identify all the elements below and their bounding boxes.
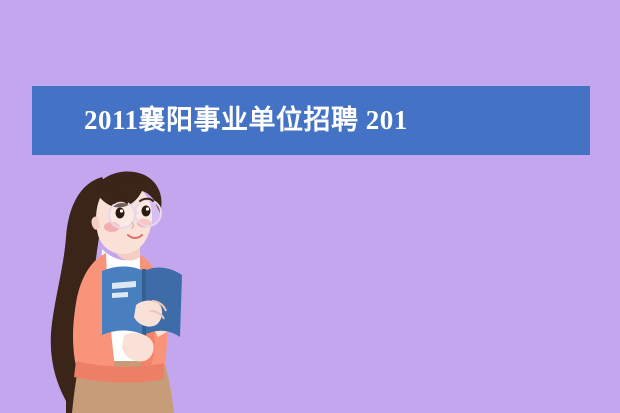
eye-left <box>116 208 125 219</box>
title-banner: 2011襄阳事业单位招聘 201 <box>32 86 590 155</box>
book-page-line-2 <box>112 292 128 298</box>
page-title: 2011襄阳事业单位招聘 201 <box>84 107 408 134</box>
slide-canvas: 2011襄阳事业单位招聘 201 <box>0 0 620 413</box>
eye-right <box>142 206 151 217</box>
eye-highlight-right <box>146 207 149 210</box>
eye-highlight-left <box>120 209 123 212</box>
woman-reading-book-illustration <box>40 165 200 413</box>
book-left-page <box>102 267 144 336</box>
glasses-bridge-bar <box>134 213 136 215</box>
